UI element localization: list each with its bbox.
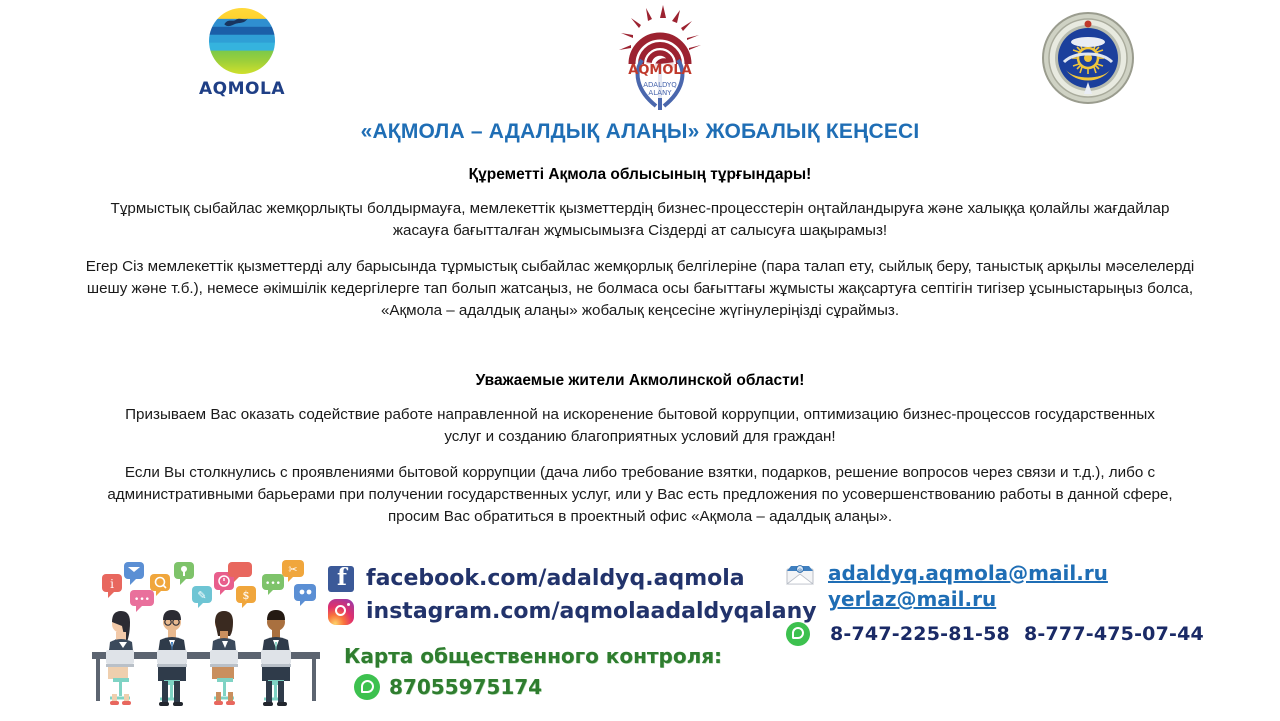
svg-text:i: i (110, 577, 114, 591)
instagram-link-label: instagram.com/aqmolaadaldyqalany (366, 599, 817, 624)
svg-text:$: $ (243, 589, 250, 602)
public-control-map-phone: 87055975174 (389, 675, 542, 699)
logo-text-alany: ALANY (648, 89, 672, 97)
contacts-group: @ adaldyq.aqmola@mail.ru yerlaz@mail.ru … (786, 560, 1218, 646)
footer-contact-bar: i ••• ✎ $ ••• ✂ (0, 548, 1280, 720)
aqmola-region-logo: AQMOLA (196, 8, 288, 99)
logo-text-aqmola: AQMOLA (628, 63, 691, 78)
facebook-icon (328, 566, 354, 592)
section-spacer (70, 322, 1210, 350)
public-control-map-title: Карта общественного контроля: (344, 644, 722, 668)
kazakhstan-state-emblem (1042, 12, 1134, 104)
facebook-link[interactable]: facebook.com/adaldyq.aqmola (328, 562, 817, 595)
email-links: adaldyq.aqmola@mail.ru yerlaz@mail.ru (828, 560, 1108, 613)
russian-paragraph-1: Призываем Вас оказать содействие работе … (70, 404, 1210, 448)
russian-paragraph-2: Если Вы столкнулись с проявлениями бытов… (70, 462, 1210, 528)
facebook-link-label: facebook.com/adaldyq.aqmola (366, 566, 745, 591)
email-row: @ adaldyq.aqmola@mail.ru yerlaz@mail.ru (786, 560, 1218, 613)
email-link-1[interactable]: adaldyq.aqmola@mail.ru (828, 560, 1108, 586)
bird-icon (223, 16, 249, 30)
whatsapp-icon (786, 622, 810, 646)
whatsapp-phone-numbers: 8-747-225-81-588-777-475-07-44 (830, 623, 1218, 645)
page-title: «АҚМОЛА – АДАЛДЫҚ АЛАҢЫ» ЖОБАЛЫҚ КЕҢСЕСІ (0, 120, 1280, 144)
kazakh-paragraph-2: Егер Сіз мемлекеттік қызметтерді алу бар… (70, 256, 1210, 322)
email-envelope-icon: @ (786, 564, 814, 585)
aqmola-globe-icon (209, 8, 275, 74)
public-control-map-phone-row[interactable]: 87055975174 (354, 674, 722, 700)
logo-text-adaldyq: ADALDYQ (643, 81, 677, 89)
document-body: Құреметті Ақмола облысының тұрғындары! Т… (0, 166, 1280, 528)
email-link-2[interactable]: yerlaz@mail.ru (828, 586, 1108, 612)
aqmola-wordmark: AQMOLA (196, 79, 288, 99)
public-control-map-block: Карта общественного контроля: 8705597517… (344, 644, 722, 700)
svg-text:•••: ••• (134, 595, 150, 605)
instagram-icon (328, 599, 354, 625)
svg-text:✂: ✂ (288, 563, 297, 576)
whatsapp-icon (354, 674, 380, 700)
social-links-group: facebook.com/adaldyq.aqmola instagram.co… (328, 562, 817, 628)
kazakh-heading: Құреметті Ақмола облысының тұрғындары! (70, 166, 1210, 184)
whatsapp-phone-2: 8-777-475-07-44 (1024, 623, 1204, 645)
svg-text:✎: ✎ (197, 589, 206, 602)
kazakh-paragraph-1: Тұрмыстық сыбайлас жемқорлықты болдырмау… (70, 198, 1210, 242)
svg-text:•••: ••• (265, 579, 281, 589)
shanyrak-tulip-icon: AQMOLA ADALDYQ ALANY (612, 2, 708, 110)
whatsapp-phone-row[interactable]: 8-747-225-81-588-777-475-07-44 (786, 622, 1218, 646)
svg-text:@: @ (798, 567, 803, 573)
emblem-icon (1042, 12, 1134, 104)
aqmola-adaldyq-alany-logo: AQMOLA ADALDYQ ALANY (612, 2, 708, 110)
russian-heading: Уважаемые жители Акмолинской области! (70, 372, 1210, 390)
instagram-link[interactable]: instagram.com/aqmolaadaldyqalany (328, 595, 817, 628)
call-center-operators-illustration: i ••• ✎ $ ••• ✂ (86, 556, 326, 716)
whatsapp-phone-1: 8-747-225-81-58 (830, 623, 1010, 645)
header-logo-bar: AQMOLA AQMOLA ADALDYQ (0, 0, 1280, 110)
operators-illustration-icon: i ••• ✎ $ ••• ✂ (86, 556, 326, 716)
